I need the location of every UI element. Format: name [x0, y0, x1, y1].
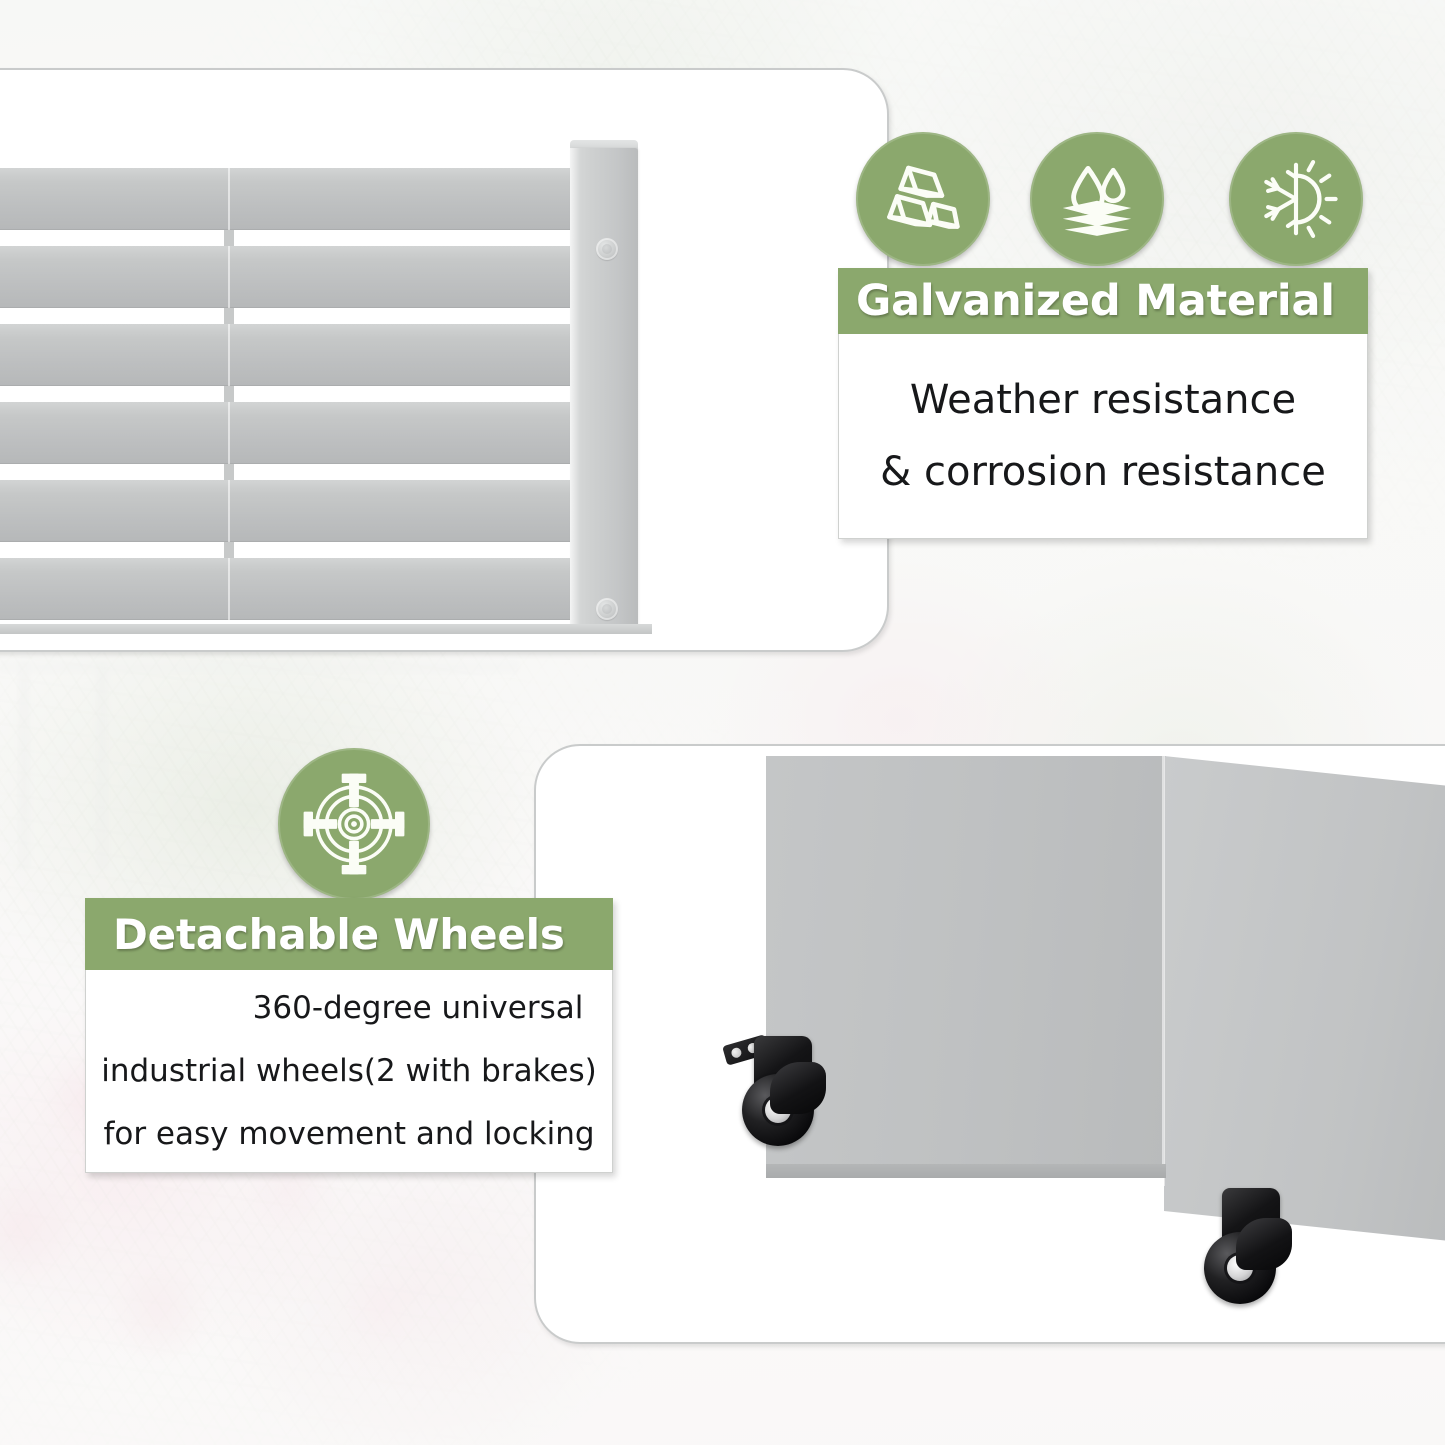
screw-icon — [596, 598, 618, 620]
feature-body-galvanized-material: Weather resistance & corrosion resistanc… — [838, 334, 1368, 539]
cabinet-bottom-edge — [766, 1164, 1166, 1178]
caster-fork — [1236, 1218, 1292, 1270]
slat-gap — [0, 230, 632, 246]
product-feature-graphic: Galvanized Material Weather resistance &… — [0, 0, 1445, 1445]
feature-body-line: Weather resistance — [910, 364, 1296, 436]
cabinet-front-face — [766, 756, 1166, 1176]
mounting-hole — [730, 1047, 742, 1059]
feature-card-galvanized-material: Galvanized Material Weather resistance &… — [838, 268, 1368, 539]
feature-body-line: industrial wheels(2 with brakes) — [101, 1040, 597, 1103]
feature-body-line: 360-degree universal — [115, 977, 584, 1040]
metal-bars-icon — [856, 132, 990, 266]
post-highlight-edge — [570, 148, 580, 626]
caster-wheel-target-icon — [278, 748, 430, 900]
cabinet-caster-wheels-photo — [534, 744, 1445, 1344]
caster-fork — [770, 1062, 826, 1114]
feature-body-detachable-wheels: 360-degree universal industrial wheels(2… — [85, 970, 613, 1173]
feature-body-line: & corrosion resistance — [880, 436, 1326, 508]
slat-gap — [0, 542, 632, 558]
water-droplets-layers-icon — [1030, 132, 1164, 266]
slat-bar — [0, 324, 632, 386]
corner-post — [570, 148, 638, 626]
cabinet-side-face — [1164, 756, 1445, 1249]
slat-bar — [0, 246, 632, 308]
slat-bar — [0, 558, 632, 620]
feature-card-detachable-wheels: Detachable Wheels 360-degree universal i… — [85, 898, 613, 1173]
feature-title-galvanized-material: Galvanized Material — [838, 268, 1368, 334]
feature-title-detachable-wheels: Detachable Wheels — [85, 898, 613, 970]
feature-body-line: for easy movement and locking — [103, 1103, 594, 1166]
panel-bottom-edge — [0, 624, 652, 634]
slat-bar — [0, 402, 632, 464]
cabinet-corner-seam — [1162, 756, 1165, 1186]
snowflake-sun-icon — [1229, 132, 1363, 266]
slat-gap — [0, 464, 632, 480]
slat-gap — [0, 386, 632, 402]
slat-stack — [0, 168, 632, 604]
screw-icon — [596, 238, 618, 260]
slat-bar — [0, 480, 632, 542]
slat-bar — [0, 168, 632, 230]
slat-gap — [0, 308, 632, 324]
galvanized-slat-panel-photo — [0, 68, 889, 652]
